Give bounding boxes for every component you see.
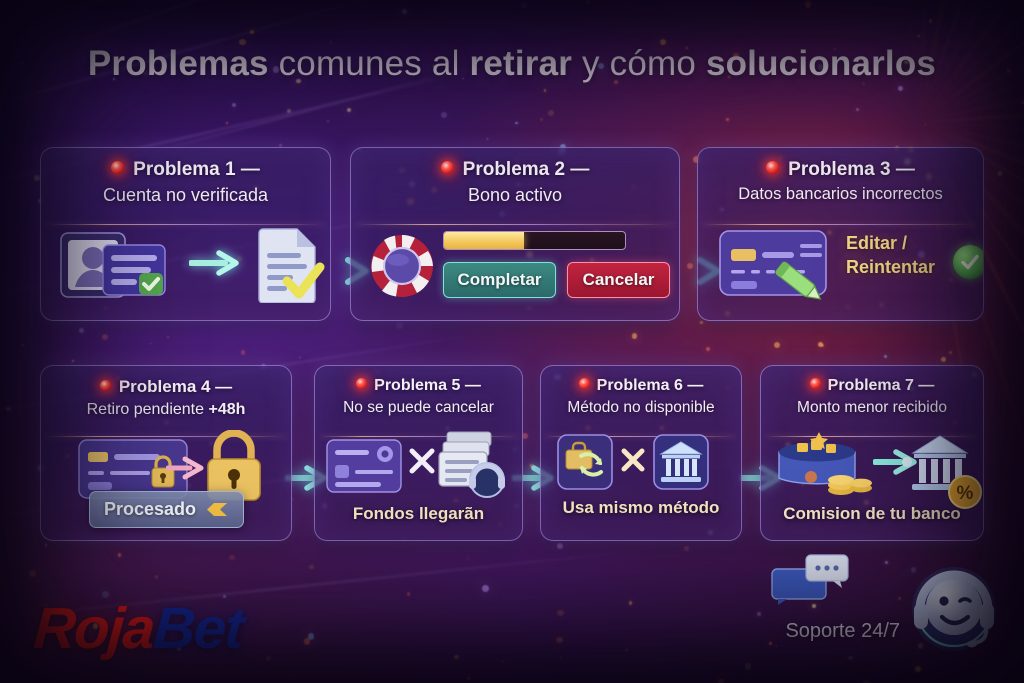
bank-card-icon xyxy=(325,438,403,494)
rojabet-logo[interactable]: RojaBet xyxy=(32,600,245,658)
document-check-icon xyxy=(253,225,325,303)
card-5-subheading: No se puede cancelar xyxy=(327,399,510,417)
logo-roja: Roja xyxy=(32,596,156,661)
logo-bet: Bet xyxy=(151,596,245,661)
green-check-icon xyxy=(953,245,984,279)
editar-reintentar-action[interactable]: Editar / Reintentar xyxy=(846,231,935,279)
card-6-title-row: Problema 6 — xyxy=(579,377,704,395)
red-dot-icon xyxy=(111,161,124,174)
card-1-subheading: Cuenta no verificada xyxy=(53,185,318,206)
id-card-icon xyxy=(59,229,171,301)
bank-building-icon xyxy=(653,434,709,490)
background-streaks xyxy=(0,0,1024,683)
card-problema-6[interactable]: Problema 6 — Método no disponible xyxy=(540,365,742,541)
card-1-title-row: Problema 1 — xyxy=(111,159,260,181)
card-5-heading: Problema 5 — xyxy=(374,377,481,394)
title-part-2: comunes al xyxy=(269,44,470,83)
svg-text:%: % xyxy=(957,483,974,504)
card-2-header: Problema 2 — Bono activo xyxy=(351,148,679,215)
card-6-heading: Problema 6 — xyxy=(597,377,704,394)
procesado-label: Procesado xyxy=(104,499,196,520)
progress-fill xyxy=(444,232,524,249)
cross-icon xyxy=(619,446,647,474)
red-dot-icon xyxy=(766,161,779,174)
wallet-coins-icon xyxy=(771,428,877,502)
card-6-subheading: Método no disponible xyxy=(553,399,729,417)
card-4-sub-bold: +48h xyxy=(208,401,245,418)
procesado-status-badge: Procesado xyxy=(89,491,244,528)
red-dot-icon xyxy=(579,378,590,389)
cancelar-button[interactable]: Cancelar xyxy=(567,262,670,298)
page-title: Problemas comunes al retirar y cómo solu… xyxy=(0,44,1024,84)
card-7-title-row: Problema 7 — xyxy=(810,377,935,395)
card-problema-5[interactable]: Problema 5 — No se puede cancelar xyxy=(314,365,523,541)
completar-button[interactable]: Completar xyxy=(443,262,556,298)
card-1-heading: Problema 1 — xyxy=(133,159,260,180)
arrow-right-icon xyxy=(189,249,241,277)
support-label: Soporte 24/7 xyxy=(785,620,900,643)
card-2-divider xyxy=(355,224,675,225)
arrow-right-icon xyxy=(166,455,206,481)
card-7-caption: Comision de tu banco xyxy=(761,504,983,524)
card-7-subheading: Monto menor recibido xyxy=(773,399,971,417)
card-5-caption: Fondos llegarãn xyxy=(315,504,522,524)
red-dot-icon xyxy=(356,378,367,389)
card-3-header: Problema 3 — Datos bancarios incorrectos xyxy=(698,148,983,213)
card-2-heading: Problema 2 — xyxy=(463,159,590,180)
card-2-title-row: Problema 2 — xyxy=(441,159,590,181)
card-2-subheading: Bono activo xyxy=(363,185,667,206)
card-problema-3[interactable]: Problema 3 — Datos bancarios incorrectos xyxy=(697,147,984,321)
card-3-heading: Problema 3 — xyxy=(788,159,915,180)
bank-card-pencil-icon xyxy=(718,225,840,303)
background-bokeh xyxy=(0,0,1024,683)
card-problema-1[interactable]: Problema 1 — Cuenta no verificada xyxy=(40,147,331,321)
red-dot-icon xyxy=(810,378,821,389)
card-4-heading: Problema 4 — xyxy=(119,377,232,396)
card-3-subheading: Datos bancarios incorrectos xyxy=(710,185,971,204)
card-1-header: Problema 1 — Cuenta no verificada xyxy=(41,148,330,215)
casino-chip-icon xyxy=(366,229,438,301)
action-line-2: Reintentar xyxy=(846,255,935,279)
title-part-3: retirar xyxy=(470,44,573,83)
card-problema-7[interactable]: Problema 7 — Monto menor recibido xyxy=(760,365,984,541)
red-dot-icon xyxy=(441,161,454,174)
documents-headset-icon xyxy=(431,428,515,500)
card-5-header: Problema 5 — No se puede cancelar xyxy=(315,366,522,426)
card-6-caption: Usa mismo método xyxy=(541,498,741,518)
bonus-progress-bar xyxy=(443,231,626,250)
headset-smiley-icon[interactable] xyxy=(904,561,1004,661)
card-7-header: Problema 7 — Monto menor recibido xyxy=(761,366,983,426)
title-part-5: solucionarlos xyxy=(706,44,936,83)
card-7-heading: Problema 7 — xyxy=(828,377,935,394)
title-part-1: Problemas xyxy=(88,44,269,83)
card-4-header: Problema 4 — Retiro pendiente +48h xyxy=(41,366,291,428)
red-dot-icon xyxy=(100,380,111,391)
infographic-canvas: Problemas comunes al retirar y cómo solu… xyxy=(0,0,1024,683)
gold-diamond-icon xyxy=(205,501,229,518)
card-problema-2[interactable]: Problema 2 — Bono activo xyxy=(350,147,680,321)
card-5-title-row: Problema 5 — xyxy=(356,377,481,395)
briefcase-swap-icon xyxy=(557,434,613,490)
card-4-title-row: Problema 4 — xyxy=(100,377,232,397)
action-line-1: Editar / xyxy=(846,231,935,255)
card-6-header: Problema 6 — Método no disponible xyxy=(541,366,741,426)
card-4-sub-plain: Retiro pendiente xyxy=(87,401,209,418)
card-problema-4[interactable]: Problema 4 — Retiro pendiente +48h xyxy=(40,365,292,541)
title-part-4: y cómo xyxy=(572,44,706,83)
chat-bubbles-icon xyxy=(770,553,854,605)
card-4-subheading: Retiro pendiente +48h xyxy=(53,401,279,419)
vignette-overlay xyxy=(0,0,1024,683)
card-3-title-row: Problema 3 — xyxy=(766,159,915,181)
